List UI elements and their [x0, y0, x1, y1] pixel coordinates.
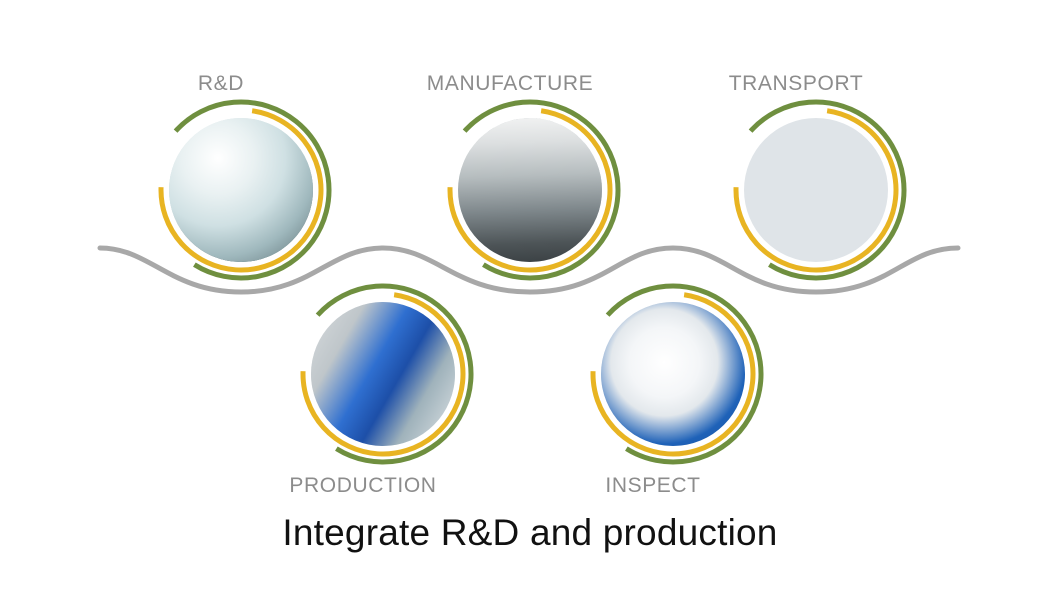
node-label-inspect: INSPECT	[493, 474, 813, 498]
infographic-canvas: R&DMANUFACTURETRANSPORTPRODUCTIONINSPECT…	[0, 0, 1060, 596]
node-photo-inspect[interactable]	[601, 302, 745, 446]
powder-sample-photo	[601, 302, 745, 446]
node-label-production: PRODUCTION	[203, 474, 523, 498]
process-node-inspect[interactable]: INSPECT	[573, 274, 773, 474]
node-photo-rnd[interactable]	[169, 118, 313, 262]
forklift-photo	[744, 118, 888, 262]
node-photo-manufacture[interactable]	[458, 118, 602, 262]
process-node-rnd[interactable]: R&D	[141, 90, 341, 290]
cleanroom-photo	[311, 302, 455, 446]
factory-photo	[458, 118, 602, 262]
node-label-rnd: R&D	[61, 72, 381, 96]
node-photo-transport[interactable]	[744, 118, 888, 262]
node-label-manufacture: MANUFACTURE	[350, 72, 670, 96]
node-label-transport: TRANSPORT	[636, 72, 956, 96]
process-node-manufacture[interactable]: MANUFACTURE	[430, 90, 630, 290]
process-node-production[interactable]: PRODUCTION	[283, 274, 483, 474]
page-caption: Integrate R&D and production	[0, 512, 1060, 554]
microscope-photo	[169, 118, 313, 262]
process-node-transport[interactable]: TRANSPORT	[716, 90, 916, 290]
node-photo-production[interactable]	[311, 302, 455, 446]
